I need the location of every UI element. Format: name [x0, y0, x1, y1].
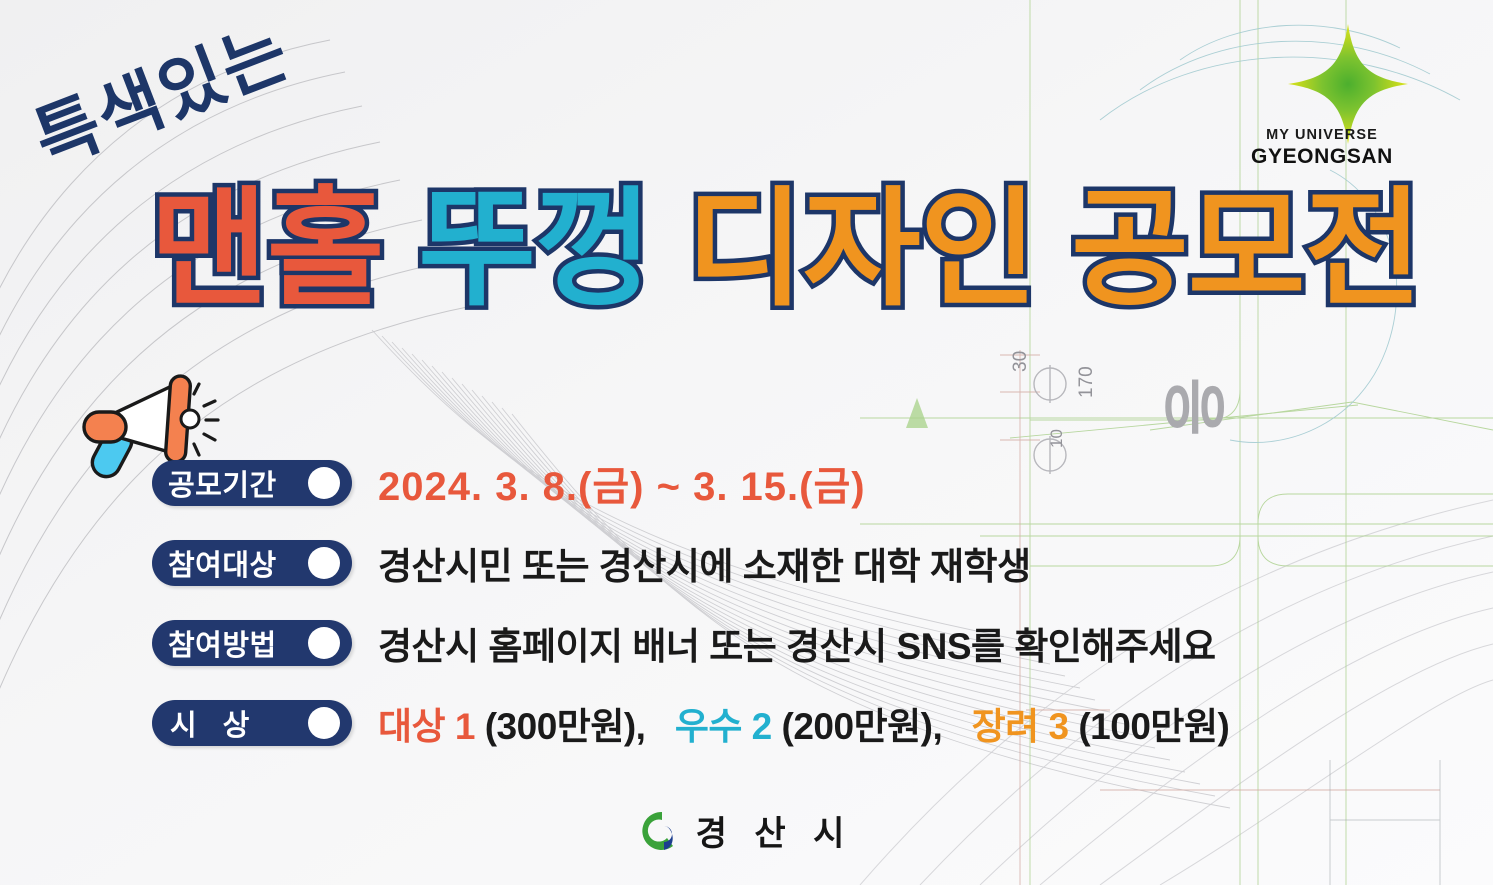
dimension-label-170: 170 [1076, 366, 1097, 398]
badge-label-prizes: 시상 [152, 702, 275, 744]
circle-bullet-icon [308, 547, 340, 579]
headline-title: 맨홀 뚜껑 디자인 공모전 [150, 186, 1421, 314]
row-submission-period: 공모기간 2024. 3. 8.(금) ~ 3. 15.(금) [152, 452, 1452, 514]
badge-submission-period: 공모기간 [152, 460, 352, 506]
prize-encourage-rank: 장려 3 [972, 706, 1069, 747]
dimension-label-30: 30 [1010, 351, 1031, 372]
prize-grand-rank: 대상 1 [378, 706, 475, 747]
footer-city-logo: 경 산 시 [0, 806, 1493, 855]
prize-grand-amount: (300만원), [485, 706, 646, 747]
badge-eligibility: 참여대상 [152, 540, 352, 586]
badge-label-submission-period: 공모기간 [152, 462, 277, 504]
headline-kicker: 특색있는 [18, 0, 302, 186]
row-prizes: 시상 대상 1 (300만원), 우수 2 (200만원), 장려 3 (100… [152, 692, 1452, 754]
title-word-cover: 뚜껑 [418, 178, 652, 321]
value-how-to-apply: 경산시 홈페이지 배너 또는 경산시 SNS를 확인해주세요 [378, 616, 1216, 670]
brand-tagline: MY UNIVERSE [1232, 127, 1412, 143]
badge-label-how-to-apply: 참여방법 [152, 622, 277, 664]
badge-label-eligibility: 참여대상 [152, 542, 277, 584]
value-submission-period: 2024. 3. 8.(금) ~ 3. 15.(금) [378, 454, 866, 512]
badge-how-to-apply: 참여방법 [152, 620, 352, 666]
title-word-manhole: 맨홀 [150, 178, 384, 321]
prize-encourage-amount: (100만원) [1078, 706, 1229, 747]
value-prizes: 대상 1 (300만원), 우수 2 (200만원), 장려 3 (100만원) [378, 696, 1229, 750]
prize-excellent-rank: 우수 2 [675, 706, 772, 747]
prize-excellent-amount: (200만원), [782, 706, 943, 747]
value-eligibility: 경산시민 또는 경산시에 소재한 대학 재학생 [378, 536, 1031, 590]
footer-city-name: 경 산 시 [696, 806, 854, 855]
badge-prizes: 시상 [152, 700, 352, 746]
gyeongsan-brand-logo: MY UNIVERSE GYEONGSAN [1232, 20, 1412, 169]
poster-canvas: 30 170 10 응 MY UNIVERSE GYEONGSAN 특색있는 맨… [0, 0, 1493, 885]
blueprint-watermark-glyph: 응 [1160, 377, 1232, 436]
circle-bullet-icon [308, 467, 340, 499]
row-eligibility: 참여대상 경산시민 또는 경산시에 소재한 대학 재학생 [152, 532, 1452, 594]
info-list: 공모기간 2024. 3. 8.(금) ~ 3. 15.(금) 참여대상 경산시… [152, 452, 1452, 772]
circle-bullet-icon [308, 627, 340, 659]
row-how-to-apply: 참여방법 경산시 홈페이지 배너 또는 경산시 SNS를 확인해주세요 [152, 612, 1452, 674]
title-word-design-contest: 디자인 공모전 [686, 178, 1421, 321]
circle-bullet-icon [308, 707, 340, 739]
brand-city-name: GYEONGSAN [1232, 145, 1412, 169]
dimension-label-10: 10 [1047, 429, 1066, 448]
gyeongsan-city-mark-icon [640, 809, 684, 853]
triangle-marker [906, 398, 928, 428]
